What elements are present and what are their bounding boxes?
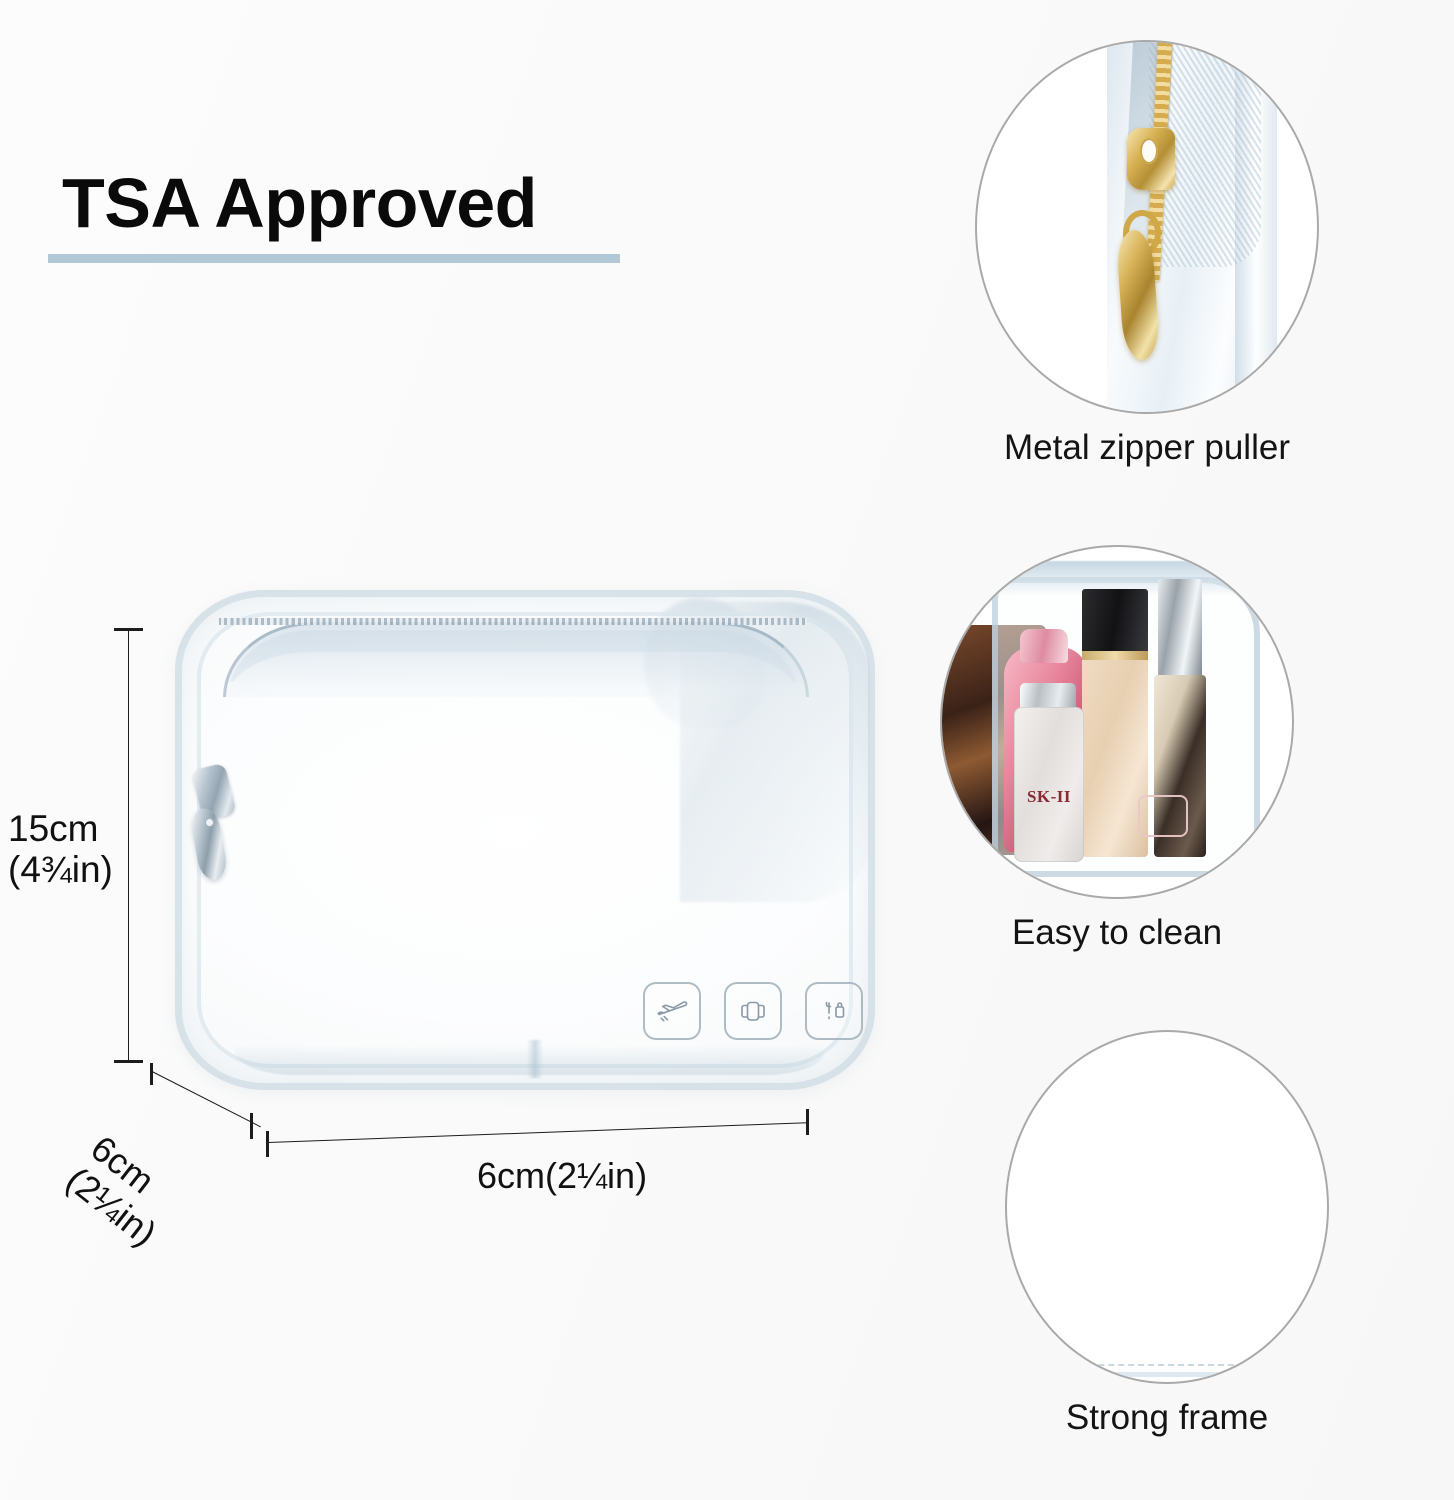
liquids-icon: [1138, 795, 1188, 837]
feature-metal-zipper-puller: Metal zipper puller: [975, 40, 1319, 468]
clear-toiletry-bag: [175, 590, 875, 1090]
width-dimension-cap-start: [266, 1131, 269, 1157]
feature-zipper-caption: Metal zipper puller: [975, 428, 1319, 468]
headline-text: TSA Approved: [62, 168, 537, 238]
pink-bottle-cap: [1020, 629, 1068, 663]
height-dimension-label: 15cm (4¾in): [8, 808, 128, 891]
skii-bottle: [1014, 707, 1084, 862]
page-title: TSA Approved: [62, 168, 537, 238]
width-dimension-label: 6cm(2¼in): [477, 1155, 647, 1197]
bag-gusset-tab: [527, 1040, 543, 1078]
feature-frame-caption: Strong frame: [1005, 1398, 1329, 1438]
feature-zipper-photo: [975, 40, 1319, 414]
bag-frame-stitching: [1005, 1030, 1317, 1366]
serum-bottle-cap: [1158, 579, 1202, 677]
liquids-icon: [805, 982, 863, 1040]
foundation-bottle-gold-band: [1082, 651, 1148, 660]
feature-easy-to-clean: SK-II Easy to clean: [940, 545, 1294, 953]
height-dimension-cap-bottom: [114, 1060, 143, 1063]
height-value-in: (4¾in): [8, 849, 128, 890]
feature-strong-frame: Strong frame: [1005, 1030, 1329, 1438]
headline-underline: [48, 254, 620, 263]
embossed-icon-row: [643, 982, 863, 1040]
product-image: [120, 545, 890, 1145]
gold-zipper-slider-hole: [1140, 138, 1158, 164]
foundation-bottle-cap: [1082, 589, 1148, 655]
feature-clean-caption: Easy to clean: [940, 913, 1294, 953]
height-value-cm: 15cm: [8, 808, 128, 849]
height-dimension-cap-top: [114, 628, 143, 631]
luggage-icon: [724, 982, 782, 1040]
height-dimension-line: [128, 628, 129, 1063]
feature-frame-photo: [1005, 1030, 1329, 1384]
depth-dimension-cap-end: [250, 1113, 253, 1139]
airplane-icon: [643, 982, 701, 1040]
depth-dimension-cap-start: [150, 1063, 153, 1085]
width-dimension-cap-end: [806, 1109, 809, 1135]
feature-clean-photo: SK-II: [940, 545, 1294, 899]
skii-brand-label: SK-II: [1020, 787, 1078, 807]
